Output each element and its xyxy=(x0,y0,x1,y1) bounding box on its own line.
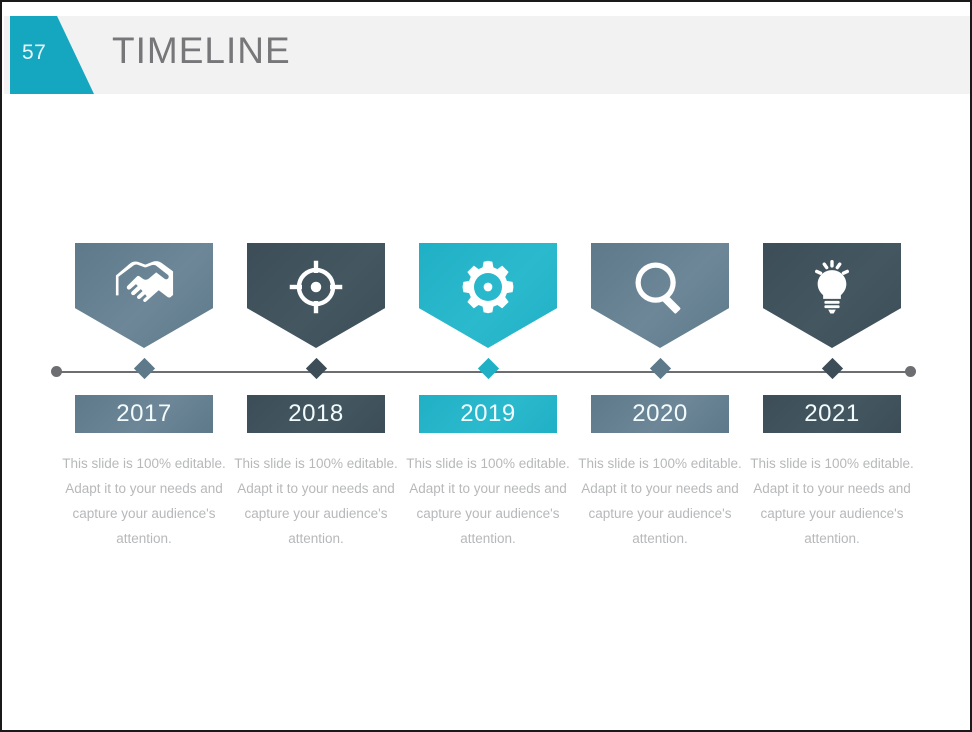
lightbulb-icon xyxy=(805,243,859,315)
timeline-milestones: 2017 This slide is 100% editable. Adapt … xyxy=(2,2,972,732)
timeline-diamond-marker xyxy=(649,358,670,379)
handshake-icon xyxy=(113,243,175,303)
timeline-diamond-marker xyxy=(821,358,842,379)
milestone-icon-banner[interactable] xyxy=(75,243,213,348)
milestone-year-plate[interactable]: 2017 xyxy=(75,395,213,433)
milestone-description: This slide is 100% editable. Adapt it to… xyxy=(748,451,916,551)
milestone-description: This slide is 100% editable. Adapt it to… xyxy=(60,451,228,551)
gear-icon xyxy=(460,243,516,315)
milestone-year-plate[interactable]: 2018 xyxy=(247,395,385,433)
timeline-milestone[interactable]: 2021 This slide is 100% editable. Adapt … xyxy=(746,243,918,348)
milestone-icon-banner[interactable] xyxy=(247,243,385,348)
milestone-icon-banner[interactable] xyxy=(419,243,557,348)
timeline-diamond-marker xyxy=(477,358,498,379)
timeline-diamond-marker xyxy=(133,358,154,379)
slide-canvas: 57 TIMELINE 2017 This slide is 100% edit… xyxy=(0,0,972,732)
timeline-milestone[interactable]: 2018 This slide is 100% editable. Adapt … xyxy=(230,243,402,348)
timeline-milestone[interactable]: 2019 This slide is 100% editable. Adapt … xyxy=(402,243,574,348)
milestone-year-plate[interactable]: 2020 xyxy=(591,395,729,433)
magnifier-icon xyxy=(632,243,688,315)
milestone-description: This slide is 100% editable. Adapt it to… xyxy=(576,451,744,551)
crosshair-target-icon xyxy=(288,243,344,315)
milestone-icon-banner[interactable] xyxy=(591,243,729,348)
timeline-diamond-marker xyxy=(305,358,326,379)
timeline-milestone[interactable]: 2020 This slide is 100% editable. Adapt … xyxy=(574,243,746,348)
milestone-year-plate[interactable]: 2021 xyxy=(763,395,901,433)
milestone-icon-banner[interactable] xyxy=(763,243,901,348)
timeline-milestone[interactable]: 2017 This slide is 100% editable. Adapt … xyxy=(58,243,230,348)
milestone-description: This slide is 100% editable. Adapt it to… xyxy=(404,451,572,551)
milestone-description: This slide is 100% editable. Adapt it to… xyxy=(232,451,400,551)
milestone-year-plate[interactable]: 2019 xyxy=(419,395,557,433)
